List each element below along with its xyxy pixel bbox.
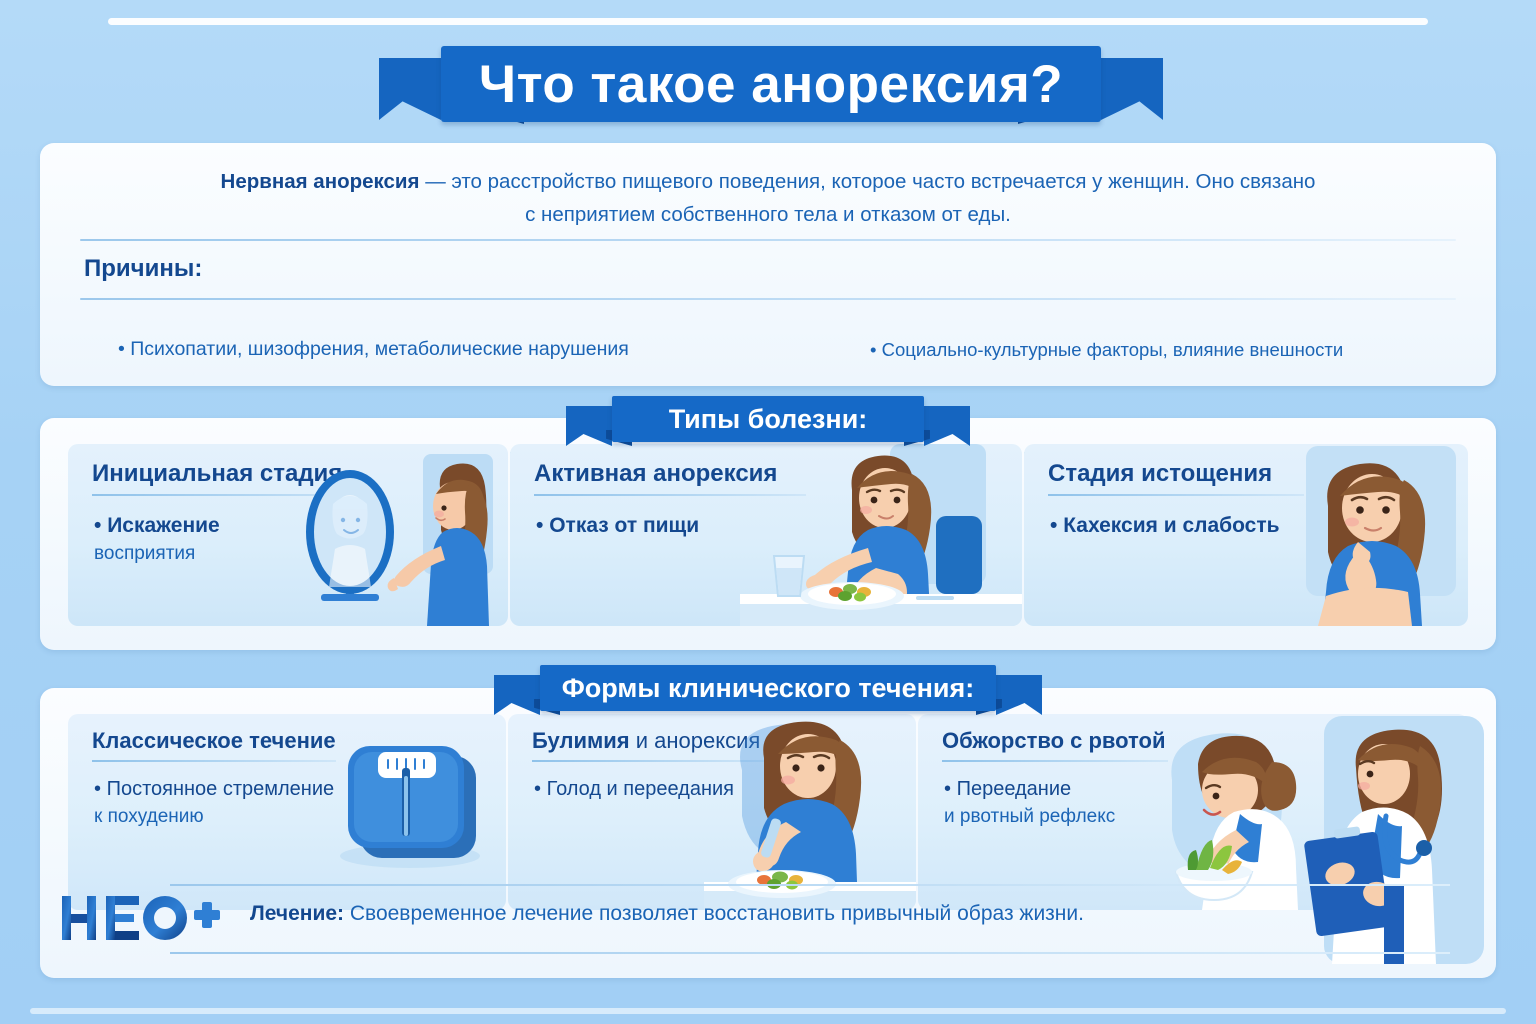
treatment-description: Своевременное лечение позволяет восстано… <box>344 902 1084 925</box>
form-card-classic-subtext: к похудению <box>94 803 334 830</box>
form-card-classic: Классическое течение • Постоянное стремл… <box>68 714 506 910</box>
bullet-icon: • <box>870 339 876 360</box>
bottom-divider-strip <box>30 1008 1506 1014</box>
bullet-icon: • <box>536 514 543 537</box>
form-card-classic-heading: Классическое течение <box>92 728 336 754</box>
type-card-initial-text: Искажение <box>107 514 220 537</box>
type-card-active-bullet: • Отказ от пищи <box>536 512 699 540</box>
types-banner-label: Типы болезни: <box>612 396 924 442</box>
woman-mirror-reflection-illustration <box>273 454 508 626</box>
ribbon-tail-left <box>494 665 540 711</box>
treatment-label: Лечение: <box>250 902 344 925</box>
cause-item-1: • Психопатии, шизофрения, метаболические… <box>118 338 629 361</box>
form-card-classic-text: Постоянное стремление <box>107 778 335 800</box>
type-card-active-text: Отказ от пищи <box>549 514 699 537</box>
form-card-binge-vomit-text: Переедание <box>957 778 1072 800</box>
intro-divider-top <box>80 239 1456 241</box>
ribbon-tail-right <box>924 396 970 442</box>
forms-banner-label: Формы клинического течения: <box>540 665 996 711</box>
cause-item-2: • Социально-культурные факторы, влияние … <box>870 339 1343 361</box>
infographic-page: Что такое анорексия? Нервная анорексия —… <box>0 0 1536 1024</box>
form-card-classic-bullet: • Постоянное стремление к похудению <box>94 776 334 830</box>
intro-panel: Нервная анорексия — это расстройство пищ… <box>40 143 1496 386</box>
form-card-binge-vomit-subtext: и рвотный рефлекс <box>944 803 1115 830</box>
bullet-icon: • <box>534 778 541 800</box>
treatment-text: Лечение: Своевременное лечение позволяет… <box>250 902 1084 926</box>
intro-lead: Нервная анорексия <box>221 170 420 193</box>
type-card-initial-bullet: • Искажение восприятия <box>94 512 220 568</box>
ribbon-tail-right <box>996 665 1042 711</box>
form-card-binge-vomit-bullet: • Переедание и рвотный рефлекс <box>944 776 1115 830</box>
cause-item-2-text: Социально-культурные факторы, влияние вн… <box>882 339 1344 360</box>
form-card-bulimia-heading-bold: Булимия <box>532 728 630 753</box>
bullet-icon: • <box>118 338 125 360</box>
types-panel: Инициальная стадия • Искажение восприяти… <box>40 418 1496 650</box>
page-title: Что такое анорексия? <box>441 46 1101 122</box>
type-card-exhaustion-text: Кахексия и слабость <box>1063 514 1279 537</box>
type-card-active: Активная анорексия • Отказ от пищи <box>510 444 1022 626</box>
treatment-bar: Лечение: Своевременное лечение позволяет… <box>60 886 1350 950</box>
bullet-icon: • <box>94 778 101 800</box>
ribbon-tail-left <box>566 396 612 442</box>
form-card-bulimia: Булимия и анорексия • Голод и переедания <box>508 714 916 910</box>
bullet-icon: • <box>94 514 101 537</box>
neo-plus-logo <box>60 892 220 944</box>
type-card-initial: Инициальная стадия • Искажение восприяти… <box>68 444 508 626</box>
bullet-icon: • <box>944 778 951 800</box>
top-divider-strip <box>108 18 1428 25</box>
causes-divider <box>80 298 1456 300</box>
heading-rule <box>942 760 1168 762</box>
ribbon-tail-right <box>1101 46 1163 122</box>
intro-line-1: — это расстройство пищевого поведения, к… <box>420 170 1316 193</box>
intro-text: Нервная анорексия — это расстройство пищ… <box>80 165 1456 231</box>
type-card-exhaustion-bullet: • Кахексия и слабость <box>1050 512 1280 540</box>
bullet-icon: • <box>1050 514 1057 537</box>
heading-rule <box>1048 494 1304 496</box>
intro-line-2: с неприятием собственного тела и отказом… <box>80 198 1456 231</box>
ribbon-tail-left <box>379 46 441 122</box>
weight-scale-illustration <box>326 732 500 872</box>
woman-eating-illustration <box>704 714 916 910</box>
heading-rule <box>92 760 336 762</box>
type-card-exhaustion-heading: Стадия истощения <box>1048 460 1272 488</box>
types-section-ribbon: Типы болезни: <box>566 396 970 442</box>
exhausted-woman-illustration <box>1286 446 1468 626</box>
cause-item-1-text: Психопатии, шизофрения, метаболические н… <box>130 338 629 360</box>
woman-refusing-plate-illustration <box>740 444 1022 626</box>
forms-section-ribbon: Формы клинического течения: <box>494 665 1042 711</box>
causes-heading: Причины: <box>84 255 202 283</box>
treatment-divider-bottom <box>170 952 1450 954</box>
form-card-binge-vomit-heading: Обжорство с рвотой <box>942 728 1166 754</box>
title-ribbon: Что такое анорексия? <box>378 46 1164 122</box>
type-card-exhaustion: Стадия истощения • Кахексия и слабость <box>1024 444 1468 626</box>
type-card-initial-subtext: восприятия <box>94 540 220 568</box>
